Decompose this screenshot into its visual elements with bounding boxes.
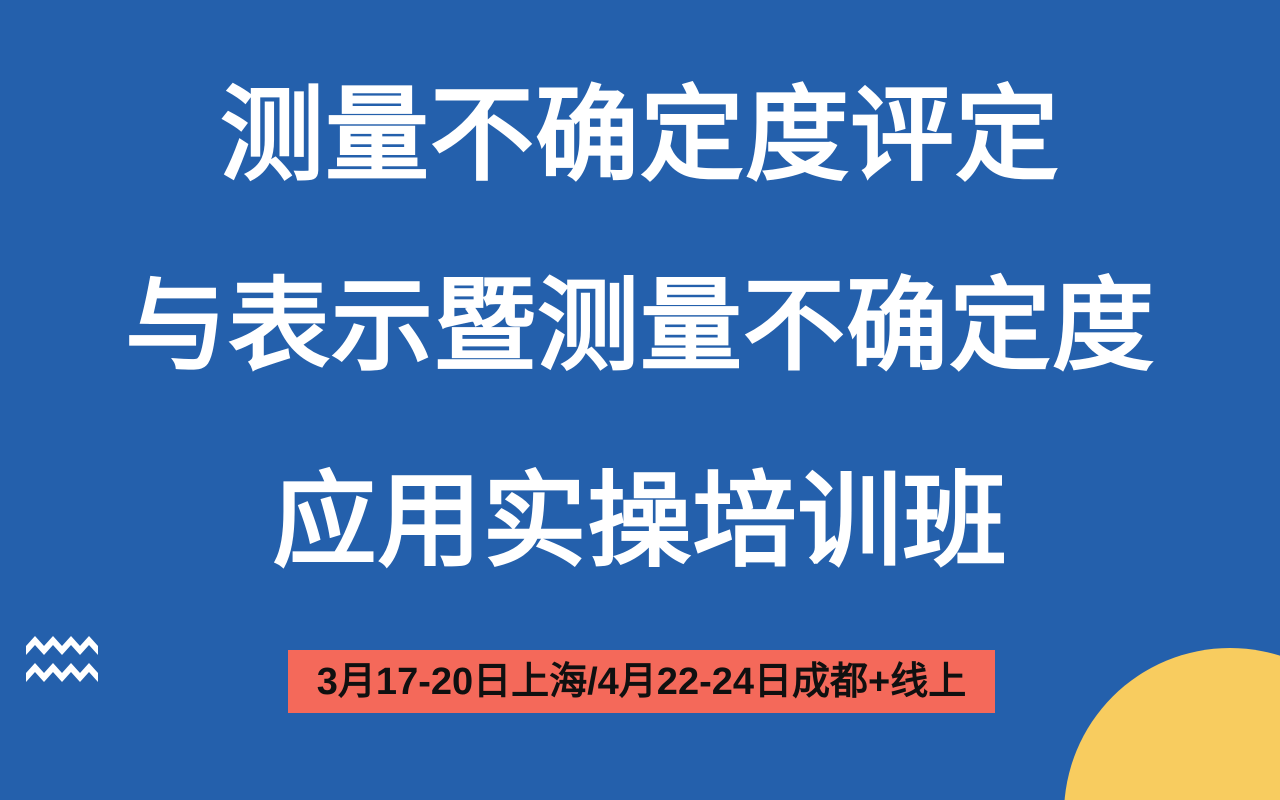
- title-line-3: 应用实操培训班: [0, 472, 1280, 572]
- page-title: 测量不确定度评定 与表示暨测量不确定度 应用实操培训班: [0, 0, 1280, 572]
- date-banner-label: 3月17-20日上海/4月22-24日成都+线上: [317, 662, 966, 702]
- title-line-1: 测量不确定度评定: [0, 86, 1280, 186]
- wave-lines-icon: [26, 636, 98, 688]
- date-banner: 3月17-20日上海/4月22-24日成都+线上: [288, 650, 995, 713]
- decorative-circle-shape: [1064, 648, 1280, 800]
- title-line-2: 与表示暨测量不确定度: [0, 276, 1280, 376]
- poster-canvas: 测量不确定度评定 与表示暨测量不确定度 应用实操培训班 3月17-20日上海/4…: [0, 0, 1280, 800]
